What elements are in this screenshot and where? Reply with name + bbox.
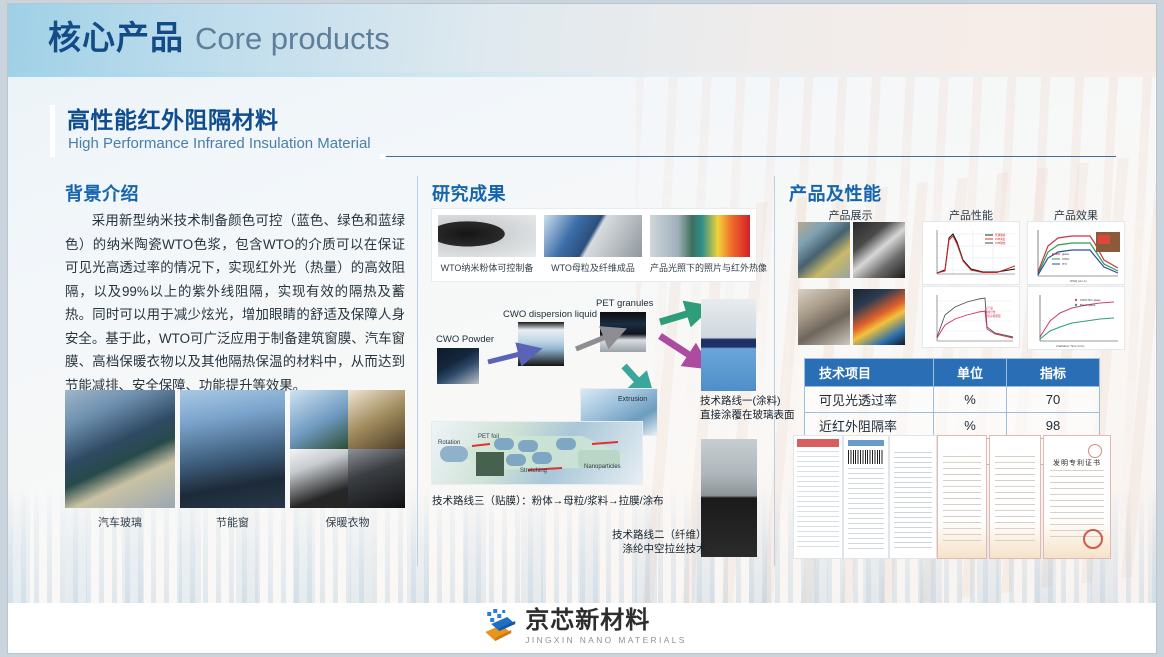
route-one-line1: 技术路线一(涂料) [700, 394, 795, 408]
logo-text-en: JINGXIN NANO MATERIALS [525, 635, 687, 645]
page-title-cn: 核心产品 [48, 19, 184, 56]
chart-effect-2: CWO film glassBlank glass Irradiation Ti… [1028, 287, 1124, 349]
svg-text:glass: glass [1062, 252, 1070, 256]
spec-col-item: 技术项目 [805, 359, 934, 387]
svg-text:Irradiation Time (min): Irradiation Time (min) [1056, 344, 1084, 348]
page-title-en: Core products [195, 21, 390, 56]
route-two-line1: 技术路线二（纤维） [612, 528, 707, 542]
image-thermal-camera [853, 289, 905, 345]
chart-effect-1: glassCWOITO WSQ (cm-1) [1028, 222, 1124, 284]
slide: 核心产品Core products 高性能红外阻隔材料 High Perform… [8, 4, 1156, 653]
subhead-product-display: 产品展示 [798, 207, 903, 223]
certificate-patent-3: 发明专利证书 [1044, 436, 1110, 558]
svg-text:CWO film glass: CWO film glass [1080, 298, 1101, 302]
svg-text:无产品: 无产品 [985, 306, 993, 310]
spec-col-unit: 单位 [934, 359, 1007, 387]
column-divider-2 [774, 176, 775, 566]
page-title: 核心产品Core products [48, 18, 390, 59]
route-one-line2: 直接涂覆在玻璃表面 [700, 408, 795, 422]
image-hollow-fiber [701, 439, 757, 557]
svg-text:PVB夹层: PVB夹层 [995, 237, 1006, 241]
certificate-patent-1 [938, 436, 986, 558]
svg-text:CWO: CWO [1062, 257, 1070, 261]
label-nanoparticles: Nanoparticles [584, 464, 621, 470]
spec-col-value: 指标 [1007, 359, 1100, 387]
right-column-heading: 产品及性能 [789, 180, 882, 206]
svg-text:涤纶纤维: 涤纶纤维 [985, 310, 996, 314]
label-pet-foil: PET foil [478, 434, 499, 440]
image-product-packaging [853, 222, 905, 278]
label-rotation: Rotation [438, 440, 460, 446]
route-two-line2: 涤纶中空拉丝技术 [612, 542, 707, 556]
spec-row1-unit: % [934, 413, 1007, 439]
svg-text:普通玻璃: 普通玻璃 [995, 233, 1006, 237]
subhead-product-performance: 产品性能 [923, 207, 1019, 223]
film-line-svg [432, 422, 642, 484]
route-two-label: 技术路线二（纤维） 涤纶中空拉丝技术 [612, 528, 707, 556]
image-vials-and-glass [701, 299, 756, 391]
footer-bar: 京芯新材料 JINGXIN NANO MATERIALS [8, 603, 1156, 653]
image-product-application [798, 289, 850, 345]
header-underline [8, 72, 1156, 77]
certificate-cttc-report [794, 436, 842, 558]
thumb-ir-thermal [650, 215, 750, 257]
label-stretching: Stretching [520, 468, 547, 474]
chart-performance-2-svg: 无产品涤纶纤维银色涂膜聚酯 [923, 287, 1019, 347]
route-one-label: 技术路线一(涂料) 直接涂覆在玻璃表面 [700, 394, 795, 422]
table-row: 近红外阻隔率 % 98 [805, 413, 1100, 439]
caption-energy-window: 节能窗 [180, 514, 285, 530]
chart-performance-2: 无产品涤纶纤维银色涂膜聚酯 [923, 287, 1019, 347]
chart-effect-1-svg: glassCWOITO WSQ (cm-1) [1028, 222, 1124, 284]
thumb-wto-powder [438, 215, 536, 257]
chart-effect-2-svg: CWO film glassBlank glass Irradiation Ti… [1028, 287, 1124, 349]
spec-row1-value: 98 [1007, 413, 1100, 439]
label-extrusion: Extrusion [618, 396, 647, 403]
caption-ir-thermal: 产品光照下的照片与红外热像 [650, 261, 750, 274]
spec-row0-unit: % [934, 387, 1007, 413]
section-title-en: High Performance Infrared Insulation Mat… [68, 135, 371, 152]
caption-warm-clothing: 保暖衣物 [290, 514, 405, 530]
logo-text-cn: 京芯新材料 [525, 609, 687, 633]
section-rule [386, 156, 1116, 157]
image-product-samples [798, 222, 850, 278]
caption-wto-powder: WTO纳米粉体可控制备 [438, 261, 536, 274]
left-column-heading: 背景介绍 [65, 180, 139, 206]
section-accent-bar [50, 105, 55, 157]
spec-row0-item: 可见光透过率 [805, 387, 934, 413]
svg-text:PVB隔热: PVB隔热 [995, 241, 1006, 245]
section-title-cn: 高性能红外阻隔材料 [67, 101, 279, 135]
thumb-wto-masterbatch [544, 215, 642, 257]
research-thumbs-card: WTO纳米粉体可控制备 WTO母粒及纤维成品 产品光照下的照片与红外热像 [432, 209, 756, 281]
chart-performance-1-svg: 普通玻璃PVB夹层PVB隔热 [923, 222, 1019, 284]
chart-performance-1: 普通玻璃PVB夹层PVB隔热 [923, 222, 1019, 284]
spec-row0-value: 70 [1007, 387, 1100, 413]
mid-column-heading: 研究成果 [432, 180, 506, 206]
photo-energy-window [180, 390, 285, 508]
route-three-label: 技术路线三（贴膜）：粉体→母粒/浆料→拉膜/涂布 [432, 494, 664, 508]
certificate-test-report [890, 436, 936, 558]
image-film-stretching-line: Rotation PET foil Stretching Nanoparticl… [432, 422, 642, 484]
caption-wto-masterbatch: WTO母粒及纤维成品 [544, 261, 642, 274]
photo-car-glass [65, 390, 175, 508]
svg-text:银色涂膜聚酯: 银色涂膜聚酯 [985, 314, 1001, 318]
svg-text:Blank glass: Blank glass [1080, 303, 1096, 307]
svg-text:WSQ (cm-1): WSQ (cm-1) [1070, 279, 1087, 283]
spec-row1-item: 近红外阻隔率 [805, 413, 934, 439]
certificate-gtt-report [844, 436, 888, 558]
photo-warm-clothing [290, 390, 405, 508]
column-divider-1 [417, 176, 418, 566]
company-logo: 京芯新材料 JINGXIN NANO MATERIALS [477, 608, 687, 646]
certificate-patent-2 [990, 436, 1040, 558]
certificate-patent-3-title: 发明专利证书 [1050, 458, 1104, 468]
logo-mark-icon [477, 608, 517, 646]
caption-car-glass: 汽车玻璃 [65, 514, 175, 530]
subhead-product-effect: 产品效果 [1028, 207, 1124, 223]
spec-table-header-row: 技术项目 单位 指标 [805, 359, 1100, 387]
background-introduction-text: 采用新型纳米技术制备颜色可控（蓝色、绿色和蓝绿色）的纳米陶瓷WTO色浆，包含WT… [65, 209, 405, 397]
svg-text:ITO: ITO [1062, 262, 1068, 266]
table-row: 可见光透过率 % 70 [805, 387, 1100, 413]
